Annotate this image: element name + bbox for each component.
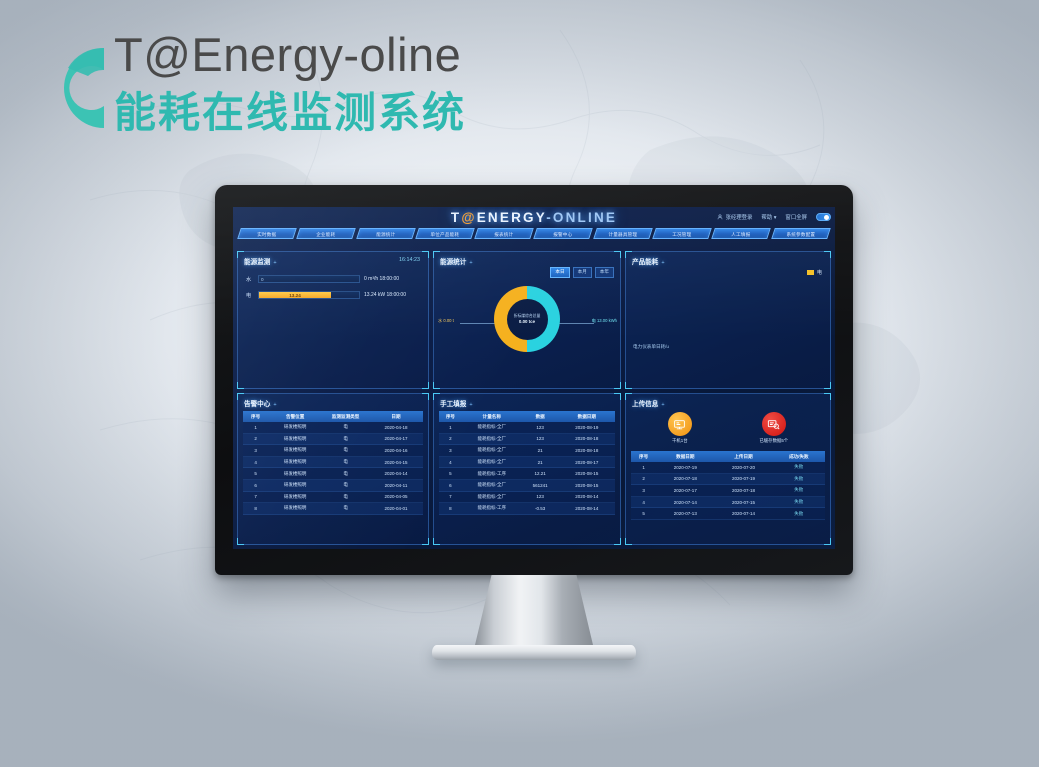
donut-center-text: 折标煤综合总量 0.00 tce [514, 314, 541, 324]
table-row[interactable]: 12020-07-192020-07-20失败 [631, 462, 825, 474]
table-cell: 6 [243, 483, 268, 488]
table-row[interactable]: 52020-07-132020-07-14失败 [631, 508, 825, 520]
realtime-row-1: 电13.2413.24 kW 18:00:00 [246, 290, 422, 300]
legend-label-electricity: 电 [817, 269, 822, 276]
table-cell: 能耗指标-工序 [462, 505, 522, 511]
panel-expand-icon[interactable]: + [661, 402, 664, 408]
table-cell: 2020-07-19 [656, 465, 714, 470]
table-cell: 2 [631, 476, 656, 481]
panel-title-energy-monitor: 能源监测+ [244, 256, 277, 266]
panel-energy-monitor: 能源监测+ 16:14:23 水00 m³/h 18:00:00电13.2413… [237, 251, 429, 389]
table-cell: 2020-04-18 [369, 425, 423, 430]
nav-item-label: 计量器具管理 [595, 229, 649, 239]
table-cell: 2 [439, 436, 462, 441]
table-cell: 2 [243, 436, 268, 441]
monitor-bezel: T@ENERGY-ONLINE 张经理登录 帮助 ▾ 窗口全屏 实时数据企业能耗… [215, 185, 853, 575]
legend-swatch-electricity [807, 270, 814, 275]
realtime-row-bar: 13.24 [258, 291, 360, 299]
donut-label-water: 水 0.00 t [438, 318, 454, 324]
dashboard-header: T@ENERGY-ONLINE 张经理登录 帮助 ▾ 窗口全屏 实时数据企业能耗… [233, 207, 835, 247]
nav-item-3[interactable]: 单位产品能耗 [415, 228, 475, 239]
panel-title-alarm-center: 告警中心+ [244, 398, 277, 408]
table-cell: 2020-08-18 [559, 448, 615, 453]
corner-mark [422, 393, 429, 400]
panel-title-text: 产品能耗 [632, 259, 658, 266]
column-header: 序号 [439, 414, 462, 420]
table-cell: 2020-04-11 [369, 483, 423, 488]
table-header-row: 序号计量名称数据数据日期 [439, 411, 615, 422]
table-cell: 1 [439, 425, 462, 430]
corner-mark [625, 382, 632, 389]
table-header-row: 序号告警位置监测监测类型日期 [243, 411, 423, 422]
table-row[interactable]: 2研发楼照明电2020-04-17 [243, 434, 423, 446]
donut-center-caption: 折标煤综合总量 [514, 314, 541, 319]
table-cell: 2020-08-15 [559, 483, 615, 488]
brand-energy: ENERGY [477, 210, 546, 225]
nav-item-2[interactable]: 能源统计 [356, 228, 416, 239]
table-cell: 2020-07-18 [714, 488, 772, 493]
dashboard-ui: T@ENERGY-ONLINE 张经理登录 帮助 ▾ 窗口全屏 实时数据企业能耗… [233, 207, 835, 549]
realtime-row-value: 0 m³/h 18:00:00 [364, 276, 422, 282]
table-row[interactable]: 8研发楼照明电2020-04-01 [243, 503, 423, 515]
table-cell: 2020-08-14 [559, 494, 615, 499]
table-row[interactable]: 42020-07-142020-07-15失败 [631, 497, 825, 509]
corner-mark [237, 382, 244, 389]
table-cell: 电 [322, 494, 369, 500]
panel-title-manual-entry: 手工填报+ [440, 398, 473, 408]
panel-expand-icon[interactable]: + [661, 260, 664, 266]
corner-mark [422, 538, 429, 545]
table-row[interactable]: 3能耗指标-全厂212020-08-18 [439, 445, 615, 457]
table-cell: 4 [631, 500, 656, 505]
data-search-icon [762, 412, 786, 436]
table-cell: 失败 [773, 487, 825, 493]
table-cell: 失败 [773, 476, 825, 482]
column-header: 数据日期 [559, 414, 615, 420]
table-cell: 4 [439, 460, 462, 465]
energy-donut-chart: 水 0.00 t 电 13.00 kWh 折标煤综合总量 0.00 tce [434, 282, 620, 386]
donut-label-electricity: 电 13.00 kWh [592, 318, 617, 324]
table-row[interactable]: 4能耗指标-全厂212020-08-17 [439, 457, 615, 469]
realtime-row-bar: 0 [258, 275, 360, 283]
table-cell: 2020-07-15 [714, 500, 772, 505]
realtime-row-label: 电 [246, 292, 254, 299]
column-header: 上传日期 [714, 454, 772, 460]
corner-mark [614, 251, 621, 258]
nav-item-label: 单位产品能耗 [418, 229, 472, 239]
corner-mark [824, 393, 831, 400]
corner-mark [422, 382, 429, 389]
table-cell: 2020-07-17 [656, 488, 714, 493]
table-row[interactable]: 5能耗指标-工序12.212020-08-15 [439, 468, 615, 480]
donut-leader-right [558, 323, 594, 324]
table-cell: 能耗指标-全厂 [462, 447, 522, 453]
table-cell: 研发楼照明 [268, 505, 322, 511]
panel-title-product-energy: 产品能耗+ [632, 256, 665, 266]
monitor-stand-base [432, 645, 636, 660]
user-name-label: 张经理登录 [725, 213, 752, 221]
table-cell: 561241 [522, 483, 559, 488]
table-cell: 2020-07-19 [714, 476, 772, 481]
badge-machine[interactable]: 干机1台 [668, 412, 692, 444]
corner-mark [237, 251, 244, 258]
corner-mark [433, 251, 440, 258]
corner-mark [625, 393, 632, 400]
brand-t: T [451, 210, 461, 225]
table-cell: 2020-04-16 [369, 448, 423, 453]
corner-mark [237, 393, 244, 400]
table-cell: 123 [522, 436, 559, 441]
corner-mark [422, 251, 429, 258]
table-row[interactable]: 22020-07-182020-07-19失败 [631, 474, 825, 486]
product-axis-note: 电力仪表单日耗/u [633, 344, 669, 350]
monitor: T@ENERGY-ONLINE 张经理登录 帮助 ▾ 窗口全屏 实时数据企业能耗… [215, 185, 853, 660]
stats-tab-1[interactable]: 本月 [573, 267, 592, 278]
table-cell: 21 [522, 460, 559, 465]
table-cell: 2020-08-14 [559, 506, 615, 511]
panel-expand-icon[interactable]: + [469, 260, 472, 266]
realtime-bar-value: 0 [261, 276, 264, 282]
table-cell: 2020-08-18 [559, 436, 615, 441]
table-cell: 7 [243, 494, 268, 499]
table-cell: 研发楼照明 [268, 471, 322, 477]
manual-entry-table: 序号计量名称数据数据日期1能耗指标-全厂1232020-08-192能耗指标-全… [439, 411, 615, 542]
column-header: 成功/失败 [773, 454, 825, 460]
table-cell: 8 [243, 506, 268, 511]
table-cell: 电 [322, 505, 369, 511]
column-header: 监测监测类型 [322, 414, 369, 420]
nav-item-label: 实时数据 [240, 229, 294, 239]
table-cell: 2020-04-17 [369, 436, 423, 441]
nav-item-label: 能源统计 [358, 229, 412, 239]
panel-alarm-center: 告警中心+ 序号告警位置监测监测类型日期1研发楼照明电2020-04-182研发… [237, 393, 429, 545]
table-cell: 电 [322, 447, 369, 453]
table-cell: 8 [439, 506, 462, 511]
table-cell: 2020-07-18 [656, 476, 714, 481]
panel-manual-entry: 手工填报+ 序号计量名称数据数据日期1能耗指标-全厂1232020-08-192… [433, 393, 621, 545]
badge-cached-label: 已缓存数据5个 [759, 438, 788, 444]
table-cell: 电 [322, 482, 369, 488]
panel-product-energy: 产品能耗+ 电 电力仪表单日耗/u [625, 251, 831, 389]
corner-mark [614, 393, 621, 400]
table-cell: 5 [439, 471, 462, 476]
table-cell: 2020-08-19 [559, 425, 615, 430]
table-cell: 能耗指标-全厂 [462, 494, 522, 500]
user-bar: 张经理登录 帮助 ▾ 窗口全屏 [717, 213, 831, 221]
stats-period-tabs: 本日本月本年 [550, 267, 614, 278]
corner-mark [824, 382, 831, 389]
upload-status-badges: 干机1台 已缓存数据5个 [634, 412, 822, 450]
column-header: 日期 [369, 414, 423, 420]
monitor-screen: T@ENERGY-ONLINE 张经理登录 帮助 ▾ 窗口全屏 实时数据企业能耗… [233, 207, 835, 549]
table-row[interactable]: 1研发楼照明电2020-04-18 [243, 422, 423, 434]
nav-item-label: 工况管理 [655, 229, 709, 239]
table-cell: 123 [522, 494, 559, 499]
panel-upload-info: 上传信息+ 干机1台 [625, 393, 831, 545]
fullscreen-label: 窗口全屏 [785, 213, 807, 221]
panel-title-upload-info: 上传信息+ [632, 398, 665, 408]
column-header: 数据日期 [656, 454, 714, 460]
table-cell: 123 [522, 425, 559, 430]
table-cell: 失败 [773, 511, 825, 517]
table-cell: 研发楼照明 [268, 494, 322, 500]
column-header: 序号 [243, 414, 268, 420]
table-cell: 2020-08-17 [559, 460, 615, 465]
realtime-clock: 16:14:23 [399, 257, 420, 263]
table-cell: 3 [439, 448, 462, 453]
poster-title-en: T@Energy-oline [114, 24, 466, 86]
table-cell: 1 [243, 425, 268, 430]
table-cell: 2020-07-14 [656, 500, 714, 505]
nav-item-6[interactable]: 计量器具管理 [593, 228, 653, 239]
table-row[interactable]: 32020-07-172020-07-18失败 [631, 485, 825, 497]
panel-title-text: 告警中心 [244, 401, 270, 408]
table-cell: 能耗指标-全厂 [462, 436, 522, 442]
table-cell: 研发楼照明 [268, 436, 322, 442]
table-cell: 电 [322, 471, 369, 477]
table-cell: 2020-04-01 [369, 506, 423, 511]
table-cell: 4 [243, 460, 268, 465]
table-cell: 能耗指标-全厂 [462, 424, 522, 430]
realtime-bar-fill: 13.24 [259, 292, 331, 298]
nav-item-4[interactable]: 报表统计 [474, 228, 534, 239]
panel-title-text: 手工填报 [440, 401, 466, 408]
product-legend: 电 [807, 269, 822, 276]
realtime-row-label: 水 [246, 276, 254, 283]
table-cell: 21 [522, 448, 559, 453]
table-row[interactable]: 7研发楼照明电2020-04-05 [243, 492, 423, 504]
table-row[interactable]: 7能耗指标-全厂1232020-08-14 [439, 492, 615, 504]
nav-item-5[interactable]: 报警中心 [534, 228, 594, 239]
table-cell: 2020-08-15 [559, 471, 615, 476]
nav-item-label: 人工填报 [714, 229, 768, 239]
corner-mark [824, 538, 831, 545]
nav-item-label: 报警中心 [536, 229, 590, 239]
table-cell: 2020-07-13 [656, 511, 714, 516]
user-menu[interactable]: 张经理登录 [717, 213, 752, 221]
column-header: 数据 [522, 414, 559, 420]
table-cell: 电 [322, 436, 369, 442]
table-cell: 6 [439, 483, 462, 488]
column-header: 计量名称 [462, 414, 522, 420]
table-row[interactable]: 6能耗指标-全厂5612412020-08-15 [439, 480, 615, 492]
panel-title-energy-statistics: 能源统计+ [440, 256, 473, 266]
table-cell: 5 [243, 471, 268, 476]
panel-energy-statistics: 能源统计+ 本日本月本年 水 0.00 t 电 13.00 kWh 折标煤综合总… [433, 251, 621, 389]
table-row[interactable]: 5研发楼照明电2020-04-14 [243, 468, 423, 480]
donut-ring: 折标煤综合总量 0.00 tce [494, 286, 560, 352]
column-header: 序号 [631, 454, 656, 460]
corner-mark [614, 538, 621, 545]
nav-item-9[interactable]: 系统参数配置 [771, 228, 831, 239]
column-header: 告警位置 [268, 414, 322, 420]
badge-cached-data[interactable]: 已缓存数据5个 [759, 412, 788, 444]
table-header-row: 序号数据日期上传日期成功/失败 [631, 451, 825, 462]
table-cell: 能耗指标-全厂 [462, 459, 522, 465]
table-cell: 2020-04-15 [369, 460, 423, 465]
table-cell: 失败 [773, 464, 825, 470]
table-cell: 2020-07-20 [714, 465, 772, 470]
nav-item-label: 系统参数配置 [773, 229, 827, 239]
table-cell: 3 [631, 488, 656, 493]
table-cell: 5 [631, 511, 656, 516]
table-row[interactable]: 3研发楼照明电2020-04-16 [243, 445, 423, 457]
nav-item-0[interactable]: 实时数据 [237, 228, 297, 239]
nav-item-1[interactable]: 企业能耗 [297, 228, 357, 239]
table-cell: 1 [631, 465, 656, 470]
help-menu[interactable]: 帮助 ▾ [761, 213, 776, 221]
badge-machine-label: 干机1台 [668, 438, 692, 444]
nav-item-8[interactable]: 人工填报 [712, 228, 772, 239]
panel-expand-icon[interactable]: + [273, 402, 276, 408]
monitor-stand-neck [475, 575, 593, 645]
table-cell: 7 [439, 494, 462, 499]
nav-item-label: 企业能耗 [299, 229, 353, 239]
table-row[interactable]: 1能耗指标-全厂1232020-08-19 [439, 422, 615, 434]
main-nav: 实时数据企业能耗能源统计单位产品能耗报表统计报警中心计量器具管理工况管理人工填报… [239, 228, 829, 239]
upload-table: 序号数据日期上传日期成功/失败12020-07-192020-07-20失败22… [631, 451, 825, 542]
table-cell: 电 [322, 424, 369, 430]
donut-leader-left [460, 323, 496, 324]
nav-item-7[interactable]: 工况管理 [652, 228, 712, 239]
panel-expand-icon[interactable]: + [273, 260, 276, 266]
table-cell: 研发楼照明 [268, 482, 322, 488]
nav-item-label: 报表统计 [477, 229, 531, 239]
brand-dash: - [546, 210, 553, 225]
table-row[interactable]: 6研发楼照明电2020-04-11 [243, 480, 423, 492]
corner-mark [625, 251, 632, 258]
table-cell: 2020-07-14 [714, 511, 772, 516]
realtime-row-0: 水00 m³/h 18:00:00 [246, 274, 422, 284]
poster-canvas: T@Energy-oline 能耗在线监测系统 T@ENERGY-ONLINE … [0, 0, 1039, 767]
table-cell: -0.53 [522, 506, 559, 511]
corner-mark [824, 251, 831, 258]
user-icon [717, 214, 723, 220]
fullscreen-toggle[interactable] [816, 213, 831, 221]
brand-online: ONLINE [553, 210, 617, 225]
poster-title-cn: 能耗在线监测系统 [114, 86, 466, 140]
panel-expand-icon[interactable]: + [469, 402, 472, 408]
realtime-row-value: 13.24 kW 18:00:00 [364, 292, 422, 298]
server-machine-icon [668, 412, 692, 436]
table-cell: 研发楼照明 [268, 424, 322, 430]
table-cell: 2020-04-14 [369, 471, 423, 476]
table-cell: 电 [322, 459, 369, 465]
stats-tab-0[interactable]: 本日 [550, 267, 569, 278]
table-cell: 3 [243, 448, 268, 453]
table-cell: 能耗指标-全厂 [462, 482, 522, 488]
table-cell: 失败 [773, 499, 825, 505]
table-row[interactable]: 8能耗指标-工序-0.532020-08-14 [439, 503, 615, 515]
corner-mark [433, 393, 440, 400]
brand-at-icon: @ [461, 210, 476, 225]
table-cell: 研发楼照明 [268, 447, 322, 453]
stats-tab-2[interactable]: 本年 [595, 267, 614, 278]
table-cell: 能耗指标-工序 [462, 471, 522, 477]
panel-title-text: 上传信息 [632, 401, 658, 408]
table-cell: 研发楼照明 [268, 459, 322, 465]
panel-title-text: 能源监测 [244, 259, 270, 266]
table-cell: 2020-04-05 [369, 494, 423, 499]
c-mark-logo-icon [48, 32, 112, 144]
panel-title-text: 能源统计 [440, 259, 466, 266]
table-row[interactable]: 2能耗指标-全厂1232020-08-18 [439, 434, 615, 446]
donut-center-value: 0.00 tce [514, 319, 541, 325]
table-cell: 12.21 [522, 471, 559, 476]
alarm-table: 序号告警位置监测监测类型日期1研发楼照明电2020-04-182研发楼照明电20… [243, 411, 423, 542]
table-row[interactable]: 4研发楼照明电2020-04-15 [243, 457, 423, 469]
